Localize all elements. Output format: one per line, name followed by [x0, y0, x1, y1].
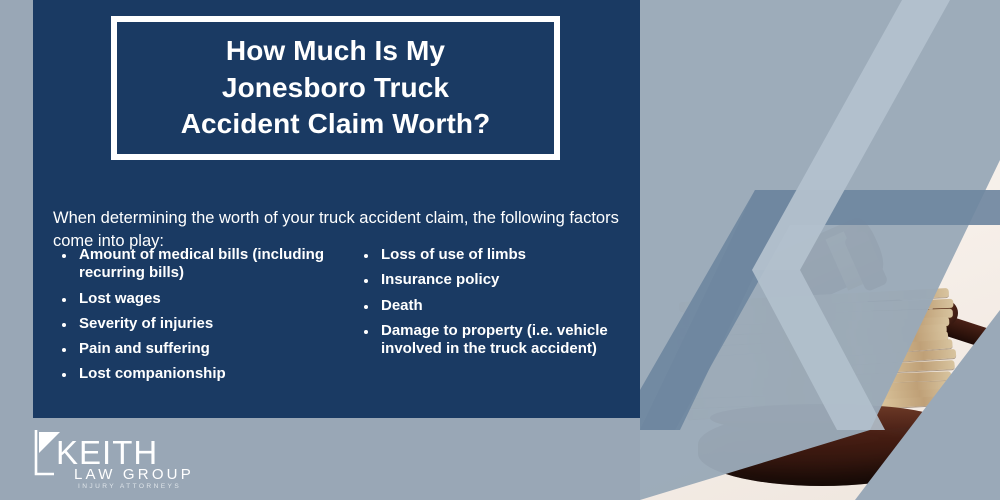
list-item: Damage to property (i.e. vehicle involve…	[355, 322, 633, 359]
keith-law-group-logo: KEITH LAW GROUP INJURY ATTORNEYS	[30, 428, 205, 490]
list-item: Lost wages	[53, 290, 333, 308]
factors-list-left: Amount of medical bills (including recur…	[53, 246, 333, 384]
list-item: Lost companionship	[53, 365, 333, 383]
page-title: How Much Is My Jonesboro Truck Accident …	[171, 33, 501, 144]
logo-tagline: INJURY ATTORNEYS	[78, 483, 181, 490]
factors-column-left: Amount of medical bills (including recur…	[53, 246, 333, 391]
logo-subtitle: LAW GROUP	[74, 466, 194, 483]
factors-columns: Amount of medical bills (including recur…	[53, 246, 633, 391]
list-item: Severity of injuries	[53, 315, 333, 333]
gavel-money-photo	[640, 0, 1000, 500]
title-box: How Much Is My Jonesboro Truck Accident …	[111, 16, 560, 160]
list-item: Loss of use of limbs	[355, 246, 633, 264]
sound-block-top	[710, 404, 934, 432]
content-panel: How Much Is My Jonesboro Truck Accident …	[33, 0, 640, 418]
infographic-canvas: How Much Is My Jonesboro Truck Accident …	[0, 0, 1000, 500]
factors-column-right: Loss of use of limbsInsurance policyDeat…	[355, 246, 633, 391]
list-item: Insurance policy	[355, 271, 633, 289]
title-line-2: Jonesboro Truck	[222, 72, 449, 103]
title-line-1: How Much Is My	[226, 35, 445, 66]
list-item: Pain and suffering	[53, 340, 333, 358]
list-item: Death	[355, 297, 633, 315]
factors-list-right: Loss of use of limbsInsurance policyDeat…	[355, 246, 633, 358]
title-line-3: Accident Claim Worth?	[181, 108, 491, 139]
list-item: Amount of medical bills (including recur…	[53, 246, 333, 283]
